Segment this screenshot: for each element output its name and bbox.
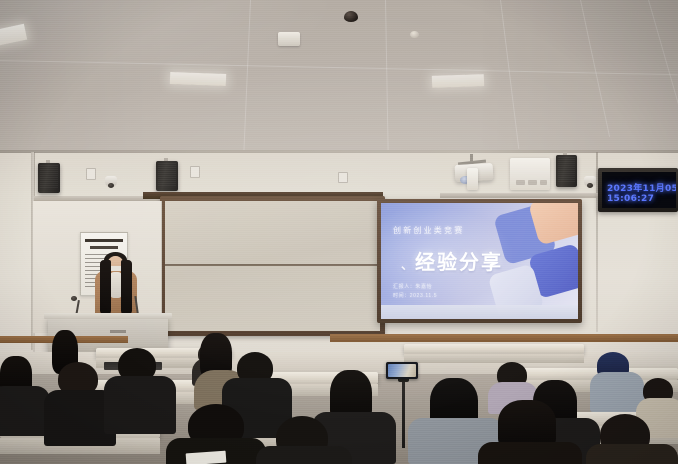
- student-body: [478, 442, 582, 464]
- whiteboard-panel-split: [165, 264, 380, 266]
- desk-front-back-row: [404, 354, 584, 363]
- phone-screen: [388, 364, 416, 377]
- wall-speaker-right: [556, 155, 577, 187]
- presentation-slide: 创新创业类竞赛 、经验分享 汇报人：朱嘉怡 时间：2023.11.5: [381, 203, 578, 319]
- tripod-pole: [402, 378, 405, 448]
- wall-ceiling-joint: [0, 150, 678, 153]
- wall-unit-slot: [528, 180, 537, 185]
- wall-plate: [86, 168, 96, 180]
- wall-unit-slot: [516, 180, 525, 185]
- projection-screen-surface: 创新创业类竞赛 、经验分享 汇报人：朱嘉怡 时间：2023.11.5: [381, 203, 578, 319]
- projection-screen: 创新创业类竞赛 、经验分享 汇报人：朱嘉怡 时间：2023.11.5: [377, 199, 582, 323]
- wall-camera-right-lens: [587, 183, 593, 188]
- student-body: [586, 444, 678, 464]
- lectern-top-surface: [44, 313, 172, 319]
- slide-bottom-band: [381, 305, 578, 319]
- wall-unit-slot: [540, 180, 547, 185]
- led-clock-display: 2023年11月05日 15:06:27: [598, 168, 678, 212]
- wall-control-unit[interactable]: [510, 158, 550, 190]
- wall-plate: [338, 172, 348, 183]
- clock-screen: 2023年11月05日 15:06:27: [602, 172, 676, 208]
- student-body: [256, 446, 352, 464]
- slide-heading-dot: 、: [401, 258, 415, 272]
- wall-speaker-left: [38, 163, 60, 193]
- slide-title: 创新创业类竞赛: [393, 225, 464, 236]
- whiteboard-surface: [165, 201, 380, 331]
- slide-heading-text: 经验分享: [415, 252, 503, 274]
- student-body: [104, 376, 176, 434]
- slide-date-line: 时间：2023.11.5: [393, 292, 437, 299]
- recording-phone-tripod: [386, 362, 418, 379]
- wood-trim: [330, 334, 678, 342]
- lectern-logo: [110, 330, 126, 333]
- wall-camera-left-lens: [108, 183, 114, 188]
- paper-on-desk: [186, 451, 227, 464]
- slide-presenter-line: 汇报人：朱嘉怡: [393, 283, 432, 290]
- lecture-hall-photo: 2023年11月05日 15:06:27 创新创业类: [0, 0, 678, 464]
- student-body: [590, 372, 644, 412]
- wall-ledge: [440, 193, 600, 198]
- desk-row-back: [404, 344, 584, 354]
- podium-microphone: [71, 296, 77, 301]
- slide-main-heading: 、经验分享: [401, 246, 503, 275]
- wall-speaker-center: [156, 161, 178, 191]
- presenter-hair-right: [121, 260, 132, 316]
- wall-remote-holder[interactable]: [467, 168, 478, 190]
- wall-plate: [190, 166, 200, 178]
- whiteboard: [160, 196, 385, 336]
- poster-title-bar: [90, 246, 118, 249]
- clock-date: 2023年11月05日: [607, 181, 676, 194]
- student-body: [0, 386, 50, 436]
- poster-header-bar: [85, 239, 123, 242]
- presenter-hair-left: [100, 260, 111, 316]
- clock-time: 15:06:27: [607, 194, 654, 204]
